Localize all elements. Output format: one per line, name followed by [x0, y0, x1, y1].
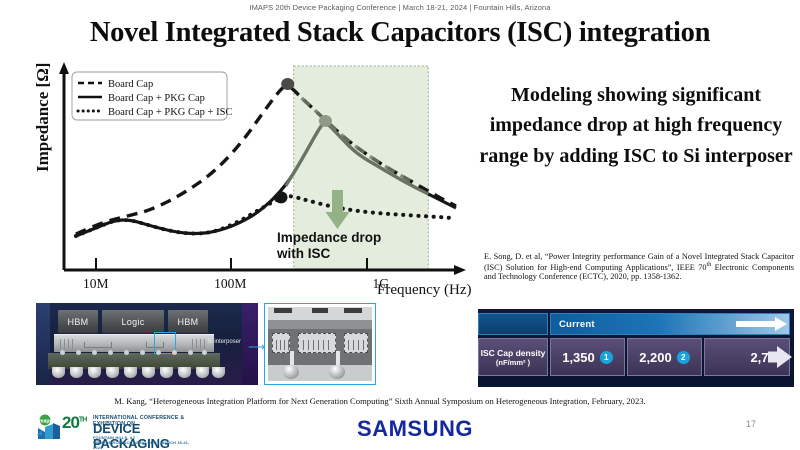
- xsection-pad: [274, 308, 292, 313]
- solder-ball: [178, 367, 191, 378]
- package-cross-section-diagram: HBM Logic HBM Si interposer: [36, 303, 258, 385]
- impedance-chart: Impedance drop with ISC Impedance [Ω] Fr…: [22, 62, 472, 297]
- table-header-current: Current: [550, 313, 790, 335]
- solder-ball: [106, 367, 119, 378]
- interposer-hatch: [192, 339, 193, 349]
- legend-label-0: Board Cap: [108, 79, 153, 90]
- interposer-hatch: [68, 339, 69, 349]
- row-label-line2: (nF/mm² ): [496, 358, 530, 367]
- isc-capacitor: [344, 333, 368, 353]
- x-tick-label-2: 1G: [373, 276, 390, 291]
- interposer-hatch: [60, 339, 61, 349]
- row-label-line1: ISC Cap density: [481, 348, 546, 358]
- interposer-hatch: [204, 339, 205, 349]
- cap-density-cell-1: 1,350 1: [550, 338, 625, 376]
- cap-density-value-1: 1,350: [562, 350, 595, 365]
- isc-cross-section-zoom: [264, 303, 376, 385]
- xsection-solder-ball: [329, 365, 345, 379]
- isc-capacitor: [298, 333, 336, 353]
- y-axis-label: Impedance [Ω]: [33, 63, 52, 172]
- table-row-label: ISC Cap density (nF/mm² ): [478, 338, 548, 376]
- imaps-anniversary-number: 20TH: [62, 413, 86, 433]
- cap-density-badge-2: 2: [677, 351, 690, 364]
- xsection-mid-layer: [268, 320, 372, 329]
- imaps-event-details: FOUNTAIN HILLS, AZ · WWW.DEVICEPACKAGING…: [93, 435, 194, 450]
- citation-bottom: M. Kang, “Heterogeneous Integration Plat…: [40, 396, 720, 406]
- x-axis-label: Frequency (Hz): [377, 282, 472, 297]
- cap-density-cell-2: 2,200 2: [627, 338, 702, 376]
- interposer-hatch: [64, 339, 65, 349]
- die-hbm-right: HBM: [168, 310, 208, 333]
- solder-ball: [124, 367, 137, 378]
- chart-marker: [275, 191, 288, 203]
- imaps-number: 20: [62, 413, 79, 432]
- interposer-slot-a: [84, 342, 112, 348]
- zoom-connector-arrow-icon: ⟶: [248, 340, 265, 355]
- microbump: [140, 350, 145, 355]
- isc-capacitor: [272, 333, 290, 353]
- row-arrow-icon: [777, 346, 792, 368]
- legend-label-2: Board Cap + PKG Cap + ISC: [108, 107, 232, 118]
- highlight-annotation-line1: Impedance drop: [277, 230, 381, 245]
- microbump: [124, 350, 129, 355]
- xsection-pad: [344, 308, 362, 313]
- si-interposer-label: Si interposer: [207, 339, 241, 345]
- interposer-hatch: [196, 339, 197, 349]
- microbump: [108, 350, 113, 355]
- right-headline: Modeling showing significant impedance d…: [478, 80, 794, 171]
- solder-ball: [160, 367, 173, 378]
- legend-label-1: Board Cap + PKG Cap: [108, 93, 205, 104]
- diagram-left-panel: [36, 303, 50, 385]
- xsection-pad: [312, 308, 328, 313]
- highlight-annotation-line2: with ISC: [276, 246, 330, 261]
- interposer-hatch: [200, 339, 201, 349]
- isc-cap-density-table: Current ISC Cap density (nF/mm² ) 1,350 …: [478, 309, 794, 387]
- microbump: [172, 350, 177, 355]
- microbump: [156, 350, 161, 355]
- xsection-inner: [268, 307, 372, 381]
- x-tick-label-0: 10M: [83, 276, 109, 291]
- chart-legend: Board Cap Board Cap + PKG Cap Board Cap …: [72, 72, 232, 120]
- slide-root: IMAPS 20th Device Packaging Conference |…: [0, 0, 800, 450]
- table-row: ISC Cap density (nF/mm² ) 1,350 1 2,200 …: [478, 338, 794, 376]
- citation-right: E. Song, D. et al, “Power Integrity perf…: [484, 252, 794, 282]
- solder-ball: [70, 367, 83, 378]
- solder-ball: [142, 367, 155, 378]
- cap-density-badge-1: 1: [600, 351, 613, 364]
- table-header-label: Current: [559, 319, 595, 330]
- header-arrow-icon: [775, 317, 787, 331]
- die-hbm-left: HBM: [58, 310, 98, 333]
- x-tick-label-1: 100M: [214, 276, 246, 291]
- chart-svg: Impedance drop with ISC Impedance [Ω] Fr…: [22, 62, 472, 297]
- interposer-hatch: [72, 339, 73, 349]
- solder-ball: [52, 367, 65, 378]
- table-header-blank: [478, 313, 548, 335]
- chart-marker: [319, 115, 332, 127]
- microbump: [92, 350, 97, 355]
- conference-header: IMAPS 20th Device Packaging Conference |…: [0, 3, 800, 12]
- imaps-number-sup: TH: [79, 416, 86, 423]
- cap-density-value-2: 2,200: [639, 350, 672, 365]
- chart-marker: [281, 78, 294, 90]
- xsection-solder-ball: [283, 365, 299, 379]
- microbump: [202, 350, 207, 355]
- microbump: [76, 350, 81, 355]
- die-logic: Logic: [102, 310, 164, 333]
- solder-ball: [212, 367, 225, 378]
- solder-ball: [196, 367, 209, 378]
- x-axis-arrowhead: [454, 265, 466, 275]
- header-arrow-tail-icon: [736, 321, 776, 327]
- page-title: Novel Integrated Stack Capacitors (ISC) …: [0, 17, 800, 49]
- svg-text:imaps: imaps: [38, 419, 53, 425]
- samsung-logo: SAMSUNG: [355, 416, 475, 442]
- page-number: 17: [746, 419, 756, 429]
- solder-ball: [88, 367, 101, 378]
- y-axis-arrowhead: [59, 62, 69, 74]
- microbump: [60, 350, 65, 355]
- imaps-logo: imaps 20TH INTERNATIONAL CONFERENCE & EX…: [36, 412, 194, 442]
- microbump: [188, 350, 193, 355]
